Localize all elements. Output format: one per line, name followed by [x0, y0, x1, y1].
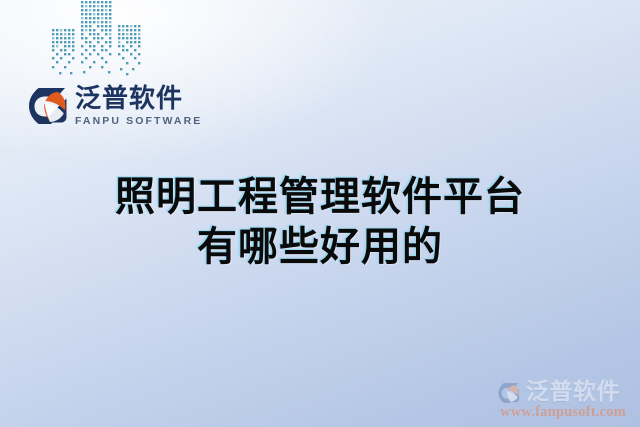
pixel-city-skyline-icon [50, 0, 142, 82]
brand-wordmark: 泛普软件 FANPU SOFTWARE [75, 86, 202, 127]
brand-name-cn: 泛普软件 [75, 86, 202, 112]
headline-line-2: 有哪些好用的 [0, 222, 640, 272]
watermark-url: www.fanpusoft.com [490, 405, 636, 421]
brand-name-en: FANPU SOFTWARE [75, 116, 202, 127]
watermark-brand-row: 泛普软件 [490, 381, 636, 404]
brand-lockup: 泛普软件 FANPU SOFTWARE [28, 86, 202, 127]
page-title: 照明工程管理软件平台 有哪些好用的 [0, 172, 640, 272]
watermark-fanpu-logo-icon [496, 382, 522, 404]
watermark-brand-name: 泛普软件 [526, 381, 620, 404]
headline-line-1: 照明工程管理软件平台 [0, 172, 640, 222]
fanpu-logo-icon [28, 86, 68, 126]
promo-banner: 泛普软件 FANPU SOFTWARE 照明工程管理软件平台 有哪些好用的 泛普… [0, 0, 640, 427]
watermark: 泛普软件 www.fanpusoft.com [490, 381, 636, 421]
